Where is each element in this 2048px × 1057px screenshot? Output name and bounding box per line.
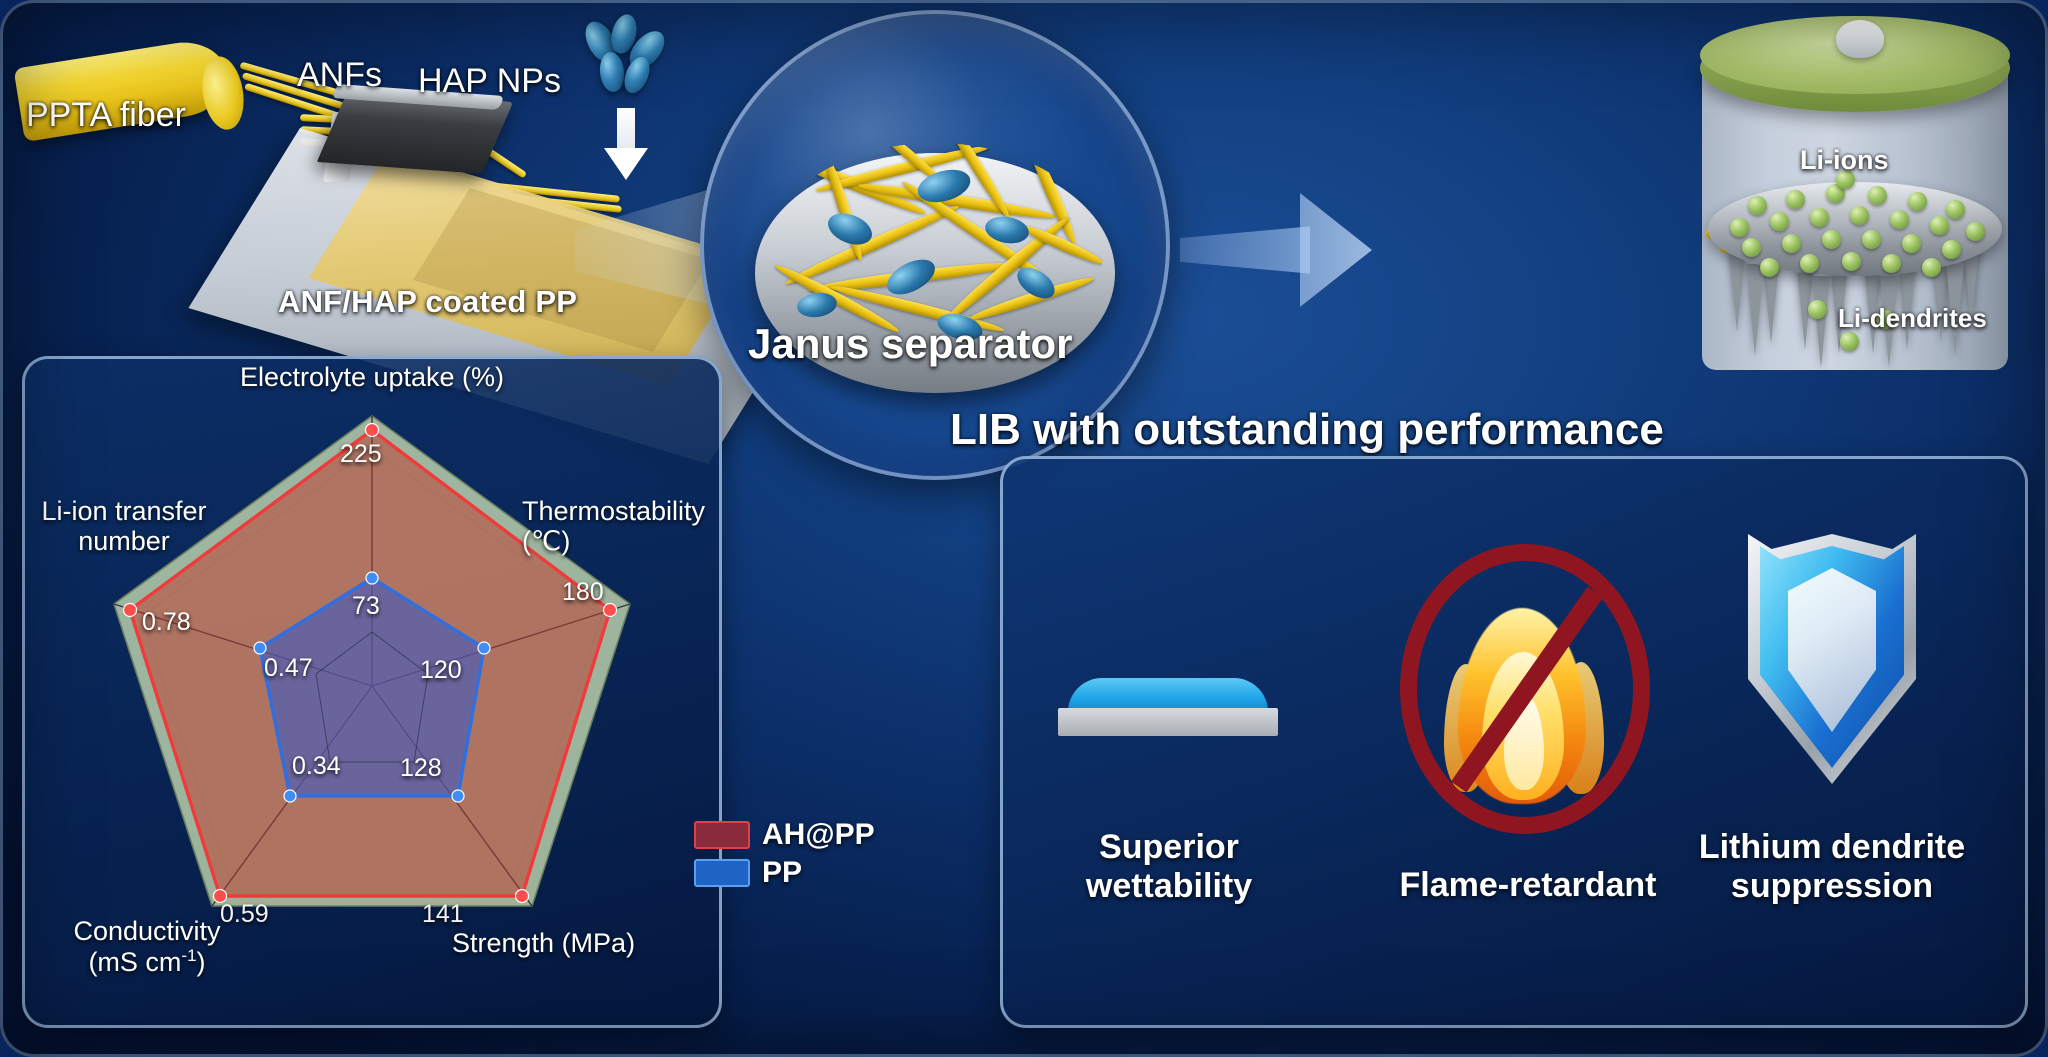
axis-label-li-ion-line2: number: [78, 526, 170, 556]
axis-label-li-ion-transfer: Li-ion transfer number: [14, 496, 234, 556]
radar-chart-legend: AH@PP PP: [694, 818, 875, 894]
feature-dendrite-suppression: Lithium dendrite suppression: [1636, 828, 2028, 906]
droplet-on-surface-icon: [1058, 646, 1278, 756]
value-pp-electrolyte-uptake: 73: [352, 592, 380, 621]
ppta-fiber-label: PPTA fiber: [26, 96, 186, 135]
axis-label-conductivity-paren: ): [197, 947, 206, 977]
axis-label-conductivity-line1: Conductivity: [73, 916, 220, 946]
value-ahpp-li-ion-transfer: 0.78: [142, 608, 191, 637]
graphical-abstract-poster: PPTA fiber ANFs HAP NPs ANF/HAP coated P…: [0, 0, 2048, 1057]
value-pp-strength: 128: [400, 754, 442, 783]
feature-wettability-caption: Superior wettability: [1038, 828, 1300, 906]
axis-label-electrolyte-uptake: Electrolyte uptake (%): [192, 362, 552, 392]
performance-features-panel: Superior wettability Flame-retardant Lit…: [1000, 456, 2028, 1028]
li-dendrites-label: Li-dendrites: [1838, 303, 1987, 334]
deposition-arrow-icon: [604, 108, 648, 180]
axis-label-strength: Strength (MPa): [452, 928, 702, 958]
no-flame-icon: [1400, 544, 1650, 834]
feature-wettability: Superior wettability: [1038, 828, 1300, 906]
radar-chart-panel: Electrolyte uptake (%) Thermostability (…: [22, 356, 722, 1028]
feature-wettability-line2: wettability: [1086, 867, 1252, 905]
shield-icon: [1748, 534, 1916, 784]
legend-label-pp: PP: [762, 856, 802, 890]
li-ions-label: Li-ions: [1800, 145, 1889, 176]
feature-wettability-line1: Superior: [1099, 828, 1239, 866]
axis-label-conductivity-sup: -1: [181, 946, 196, 965]
process-arrow-icon: [1180, 185, 1370, 315]
axis-label-conductivity-line2: (mS cm: [88, 947, 181, 977]
legend-swatch-ahpp: [694, 821, 750, 849]
feature-dendrite-line1: Lithium dendrite: [1699, 828, 1965, 866]
hap-nps-label: HAP NPs: [418, 62, 561, 101]
feature-dendrite-suppression-caption: Lithium dendrite suppression: [1636, 828, 2028, 906]
value-ahpp-conductivity: 0.59: [220, 900, 269, 929]
axis-label-thermostability-line2: (℃): [522, 526, 570, 556]
feature-dendrite-line2: suppression: [1731, 867, 1933, 905]
legend-item-ahpp: AH@PP: [694, 818, 875, 852]
value-pp-li-ion-transfer: 0.47: [264, 654, 313, 683]
anf-hap-coated-pp-title: ANF/HAP coated PP: [278, 284, 577, 320]
value-ahpp-electrolyte-uptake: 225: [340, 440, 382, 469]
battery-terminal: [1836, 20, 1884, 58]
value-ahpp-thermostability: 180: [562, 578, 604, 607]
value-ahpp-strength: 141: [422, 900, 464, 929]
legend-label-ahpp: AH@PP: [762, 818, 875, 852]
droplet-shape: [1068, 678, 1268, 712]
lib-performance-title: LIB with outstanding performance: [950, 405, 1664, 455]
axis-label-li-ion-line1: Li-ion transfer: [41, 496, 206, 526]
janus-separator-title: Janus separator: [748, 320, 1072, 368]
substrate-bar: [1058, 708, 1278, 736]
legend-item-pp: PP: [694, 856, 875, 890]
anfs-label: ANFs: [297, 56, 382, 95]
legend-swatch-pp: [694, 859, 750, 887]
value-pp-conductivity: 0.34: [292, 752, 341, 781]
axis-label-thermostability: Thermostability (℃): [522, 496, 722, 556]
value-pp-thermostability: 120: [420, 656, 462, 685]
axis-label-thermostability-line1: Thermostability: [522, 496, 705, 526]
